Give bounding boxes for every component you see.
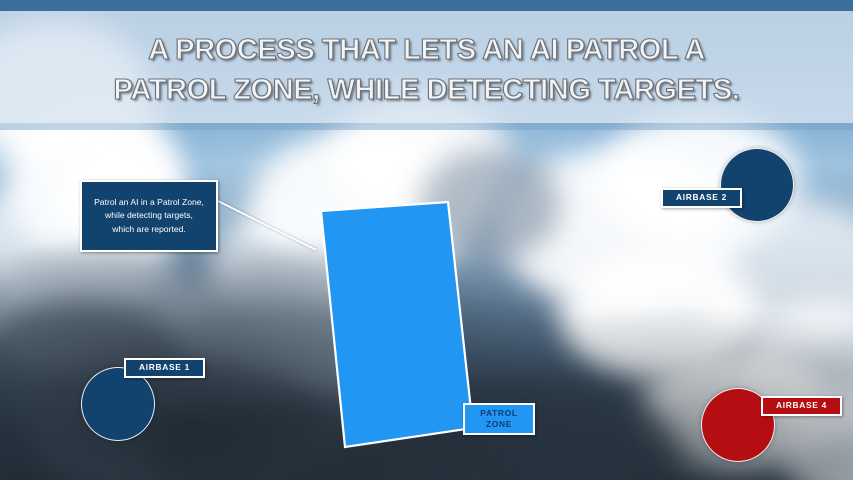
airbase-4-label[interactable]: AIRBASE 4	[761, 396, 842, 416]
callout-text: Patrol an AI in a Patrol Zone, while det…	[89, 196, 209, 236]
airbase-1-label[interactable]: AIRBASE 1	[124, 358, 205, 378]
header-top-strip	[0, 0, 853, 11]
patrol-zone-label[interactable]: PATROL ZONE	[463, 403, 535, 435]
page-title: A PROCESS THAT LETS AN AI PATROL A PATRO…	[0, 30, 853, 110]
airbase-4-label-text: AIRBASE 4	[776, 400, 827, 411]
airbase-1-label-text: AIRBASE 1	[139, 362, 190, 373]
airbase-2-label[interactable]: AIRBASE 2	[661, 188, 742, 208]
patrol-zone-label-line2: ZONE	[486, 419, 512, 430]
airbase-2-circle[interactable]	[720, 148, 794, 222]
patrol-zone-label-line1: PATROL	[480, 408, 517, 419]
callout-box: Patrol an AI in a Patrol Zone, while det…	[80, 180, 218, 252]
header-bottom-strip	[0, 123, 853, 130]
airbase-2-label-text: AIRBASE 2	[676, 192, 727, 203]
slide-canvas: A PROCESS THAT LETS AN AI PATROL A PATRO…	[0, 0, 853, 480]
airbase-1-circle[interactable]	[81, 367, 155, 441]
